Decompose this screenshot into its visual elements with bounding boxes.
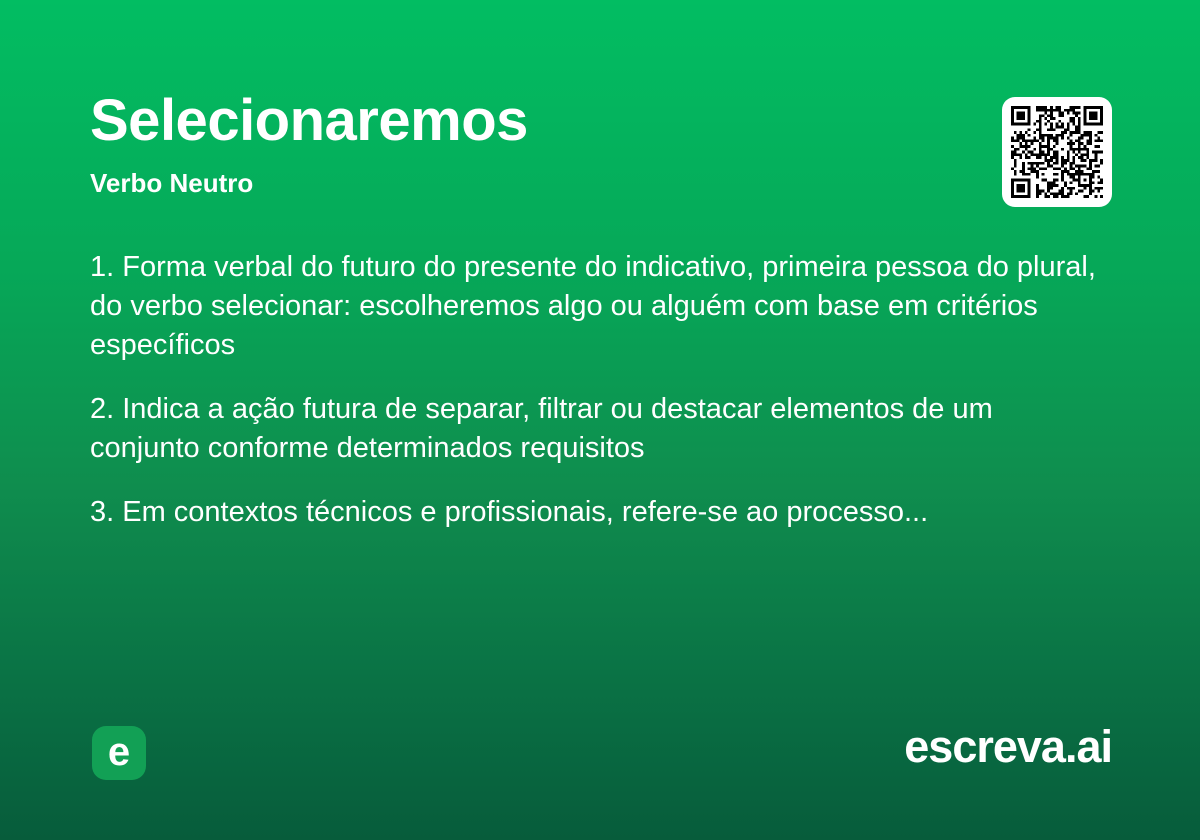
page-title: Selecionaremos (90, 92, 528, 150)
logo-letter-e: e (92, 726, 146, 780)
qr-code-image (1011, 106, 1103, 198)
dictionary-card: Selecionaremos Verbo Neutro 1. Forma ver… (0, 0, 1200, 840)
definition-item: 2. Indica a ação futura de separar, filt… (90, 390, 1105, 468)
qr-code-panel[interactable] (1002, 97, 1112, 207)
escreva-logo-mark[interactable]: e (92, 726, 146, 780)
definition-list: 1. Forma verbal do futuro do presente do… (90, 248, 1105, 532)
brand-wordmark: escreva.ai (904, 722, 1112, 772)
definition-item: 3. Em contextos técnicos e profissionais… (90, 493, 1105, 532)
definition-item: 1. Forma verbal do futuro do presente do… (90, 248, 1105, 365)
word-class-label: Verbo Neutro (90, 168, 253, 199)
